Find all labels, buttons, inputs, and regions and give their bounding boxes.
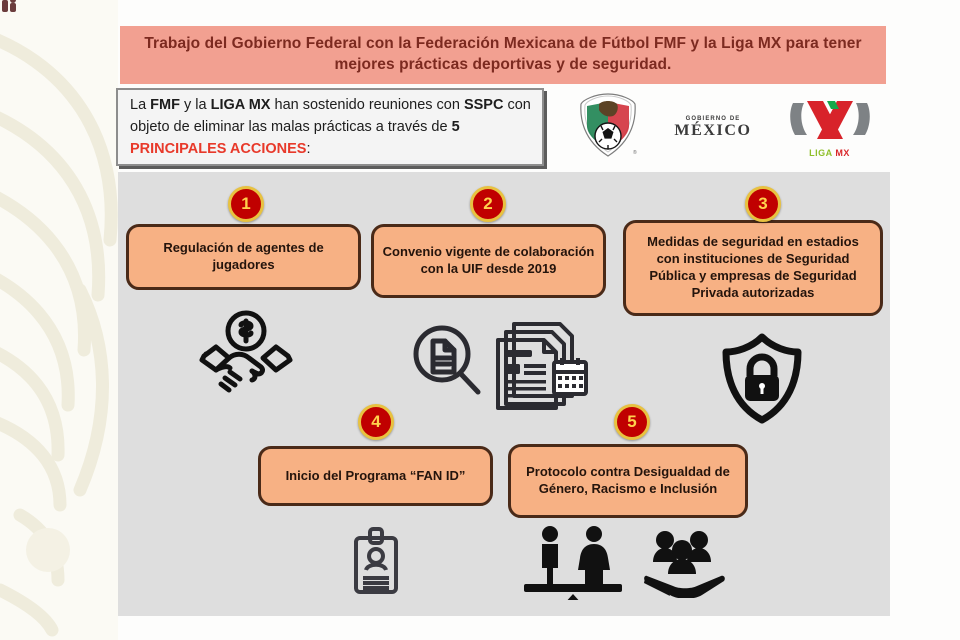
- page-title: Trabajo del Gobierno Federal con la Fede…: [120, 34, 886, 76]
- subtitle-bold-fmf: FMF: [150, 97, 180, 113]
- gender-balance-icon: [518, 524, 628, 600]
- action-box-2[interactable]: Convenio vigente de colaboración con la …: [371, 224, 606, 298]
- gobierno-label-small: GOBIERNO DE: [674, 116, 751, 122]
- subtitle-bold-five: 5: [452, 119, 460, 135]
- inclusion-hands-icon: [643, 528, 725, 598]
- action-number-5: 5: [614, 404, 650, 440]
- actions-panel: 1 2 3 4 5 Regulación de agentes de jugad…: [118, 172, 890, 616]
- subtitle-part1: La: [130, 97, 150, 113]
- slide-root: Trabajo del Gobierno Federal con la Fede…: [0, 0, 960, 640]
- slide-title-banner: Trabajo del Gobierno Federal con la Fede…: [120, 26, 886, 84]
- documents-calendar-icon: [490, 320, 590, 412]
- subtitle-text: La FMF y la LIGA MX han sostenido reunio…: [130, 94, 532, 160]
- liga-mx-wordmark: LIGA MX: [787, 148, 873, 158]
- action-number-1: 1: [228, 186, 264, 222]
- decorative-left-margin: [0, 0, 118, 640]
- action-box-4[interactable]: Inicio del Programa “FAN ID”: [258, 446, 493, 506]
- action-label-3: Medidas de seguridad en estadios con ins…: [626, 234, 880, 302]
- liga-mx-logo: LIGA MX: [787, 97, 873, 158]
- subtitle-bold-sspc: SSPC: [464, 97, 504, 113]
- action-number-2: 2: [470, 186, 506, 222]
- document-search-icon: [408, 322, 486, 402]
- action-number-3: 3: [745, 186, 781, 222]
- subtitle-part5: :: [306, 141, 310, 157]
- shield-lock-icon: [720, 332, 804, 424]
- svg-text:®: ®: [633, 149, 637, 156]
- subtitle-accent-principales-acciones: PRINCIPALES ACCIONES: [130, 141, 306, 157]
- action-number-4: 4: [358, 404, 394, 440]
- fmf-logo: ®: [577, 92, 639, 163]
- action-label-4: Inicio del Programa “FAN ID”: [278, 468, 474, 485]
- subtitle-bold-ligamx: LIGA MX: [211, 97, 271, 113]
- subtitle-part2: y la: [180, 97, 211, 113]
- handshake-money-icon: [188, 310, 304, 396]
- liga-word: LIGA: [809, 148, 835, 158]
- id-badge-icon: [348, 526, 404, 596]
- gobierno-label-big: MÉXICO: [674, 123, 751, 139]
- action-box-5[interactable]: Protocolo contra Desigualdad de Género, …: [508, 444, 748, 518]
- crowd-graphic-icon: [0, 0, 20, 12]
- action-box-1[interactable]: Regulación de agentes de jugadores: [126, 224, 361, 290]
- action-label-2: Convenio vigente de colaboración con la …: [374, 244, 603, 278]
- action-box-3[interactable]: Medidas de seguridad en estadios con ins…: [623, 220, 883, 316]
- subtitle-callout-box: La FMF y la LIGA MX han sostenido reunio…: [116, 88, 544, 166]
- gobierno-mexico-logo: GOBIERNO DE MÉXICO: [674, 116, 751, 139]
- subtitle-part3: han sostenido reuniones con: [270, 97, 463, 113]
- logo-strip: ® GOBIERNO DE MÉXICO LIGA MX: [560, 88, 890, 166]
- action-label-5: Protocolo contra Desigualdad de Género, …: [511, 464, 745, 498]
- mx-word: MX: [835, 148, 850, 158]
- action-label-1: Regulación de agentes de jugadores: [129, 240, 358, 274]
